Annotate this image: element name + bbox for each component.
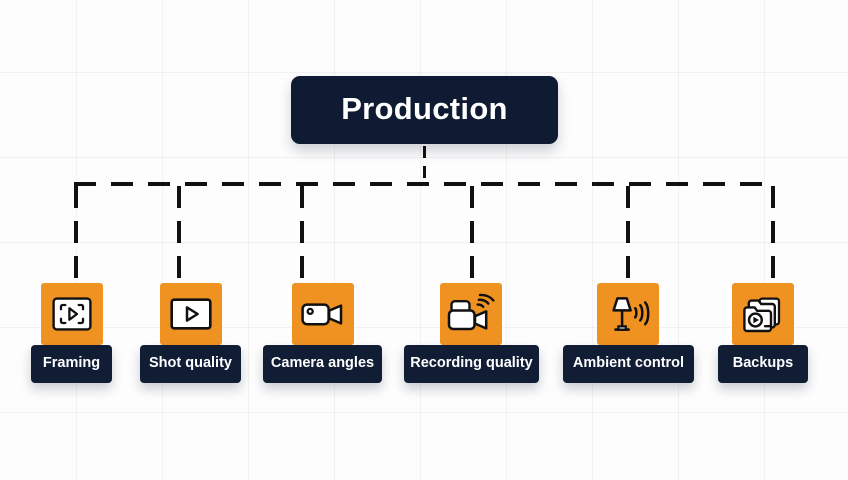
connector-drop-3 xyxy=(300,186,304,280)
leaf-label: Recording quality xyxy=(410,356,532,372)
connector-drop-5 xyxy=(626,186,630,280)
connector-drop-1 xyxy=(74,186,78,280)
diagram-canvas: Production Framing Shot quality Camera a… xyxy=(0,0,848,480)
connector-drop-6 xyxy=(771,186,775,280)
folder-stack-play-icon xyxy=(741,294,785,334)
video-camera-icon xyxy=(301,299,345,329)
connector-drop-2 xyxy=(177,186,181,280)
leaf-label: Ambient control xyxy=(573,356,684,372)
leaf-label-box[interactable]: Camera angles xyxy=(263,345,382,383)
play-rectangle-icon xyxy=(170,298,212,330)
icon-tile[interactable] xyxy=(41,283,103,345)
icon-tile[interactable] xyxy=(597,283,659,345)
icon-tile[interactable] xyxy=(732,283,794,345)
icon-tile[interactable] xyxy=(160,283,222,345)
leaf-label-box[interactable]: Backups xyxy=(718,345,808,383)
leaf-label: Backups xyxy=(733,356,793,372)
connector-drop-4 xyxy=(470,186,474,280)
leaf-label-box[interactable]: Framing xyxy=(31,345,112,383)
leaf-label-box[interactable]: Shot quality xyxy=(140,345,241,383)
video-camera-signal-icon xyxy=(447,293,495,335)
root-node-production[interactable]: Production xyxy=(291,76,558,144)
leaf-label: Camera angles xyxy=(271,356,374,372)
leaf-label: Framing xyxy=(43,356,100,372)
connector-trunk xyxy=(423,146,426,185)
leaf-label-box[interactable]: Ambient control xyxy=(563,345,694,383)
leaf-label-box[interactable]: Recording quality xyxy=(404,345,539,383)
icon-tile[interactable] xyxy=(440,283,502,345)
icon-tile[interactable] xyxy=(292,283,354,345)
smart-lamp-signal-icon xyxy=(605,294,651,334)
leaf-label: Shot quality xyxy=(149,356,232,372)
framing-brackets-play-icon xyxy=(52,297,92,331)
root-node-label: Production xyxy=(341,93,508,127)
